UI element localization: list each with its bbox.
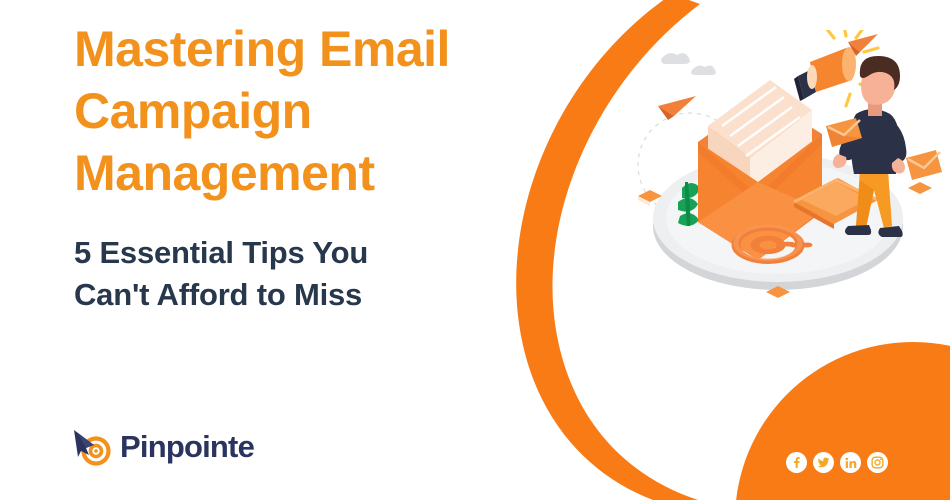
shoe-left (845, 225, 871, 235)
text-block: Mastering Email Campaign Management 5 Es… (74, 18, 544, 316)
page-title: Mastering Email Campaign Management (74, 18, 544, 204)
page-subtitle: 5 Essential Tips You Can't Afford to Mis… (74, 204, 544, 316)
email-campaign-illustration (610, 30, 950, 340)
orange-corner-circle (735, 342, 950, 500)
facebook-icon[interactable] (786, 452, 807, 473)
twitter-icon[interactable] (813, 452, 834, 473)
dart-target-icon (72, 424, 116, 468)
brand-logo[interactable]: Pinpointe (72, 424, 254, 468)
brand-name: Pinpointe (120, 431, 254, 462)
linkedin-icon[interactable] (840, 452, 861, 473)
banner-canvas: Mastering Email Campaign Management 5 Es… (0, 0, 950, 500)
instagram-icon[interactable] (867, 452, 888, 473)
social-links[interactable] (786, 452, 888, 473)
